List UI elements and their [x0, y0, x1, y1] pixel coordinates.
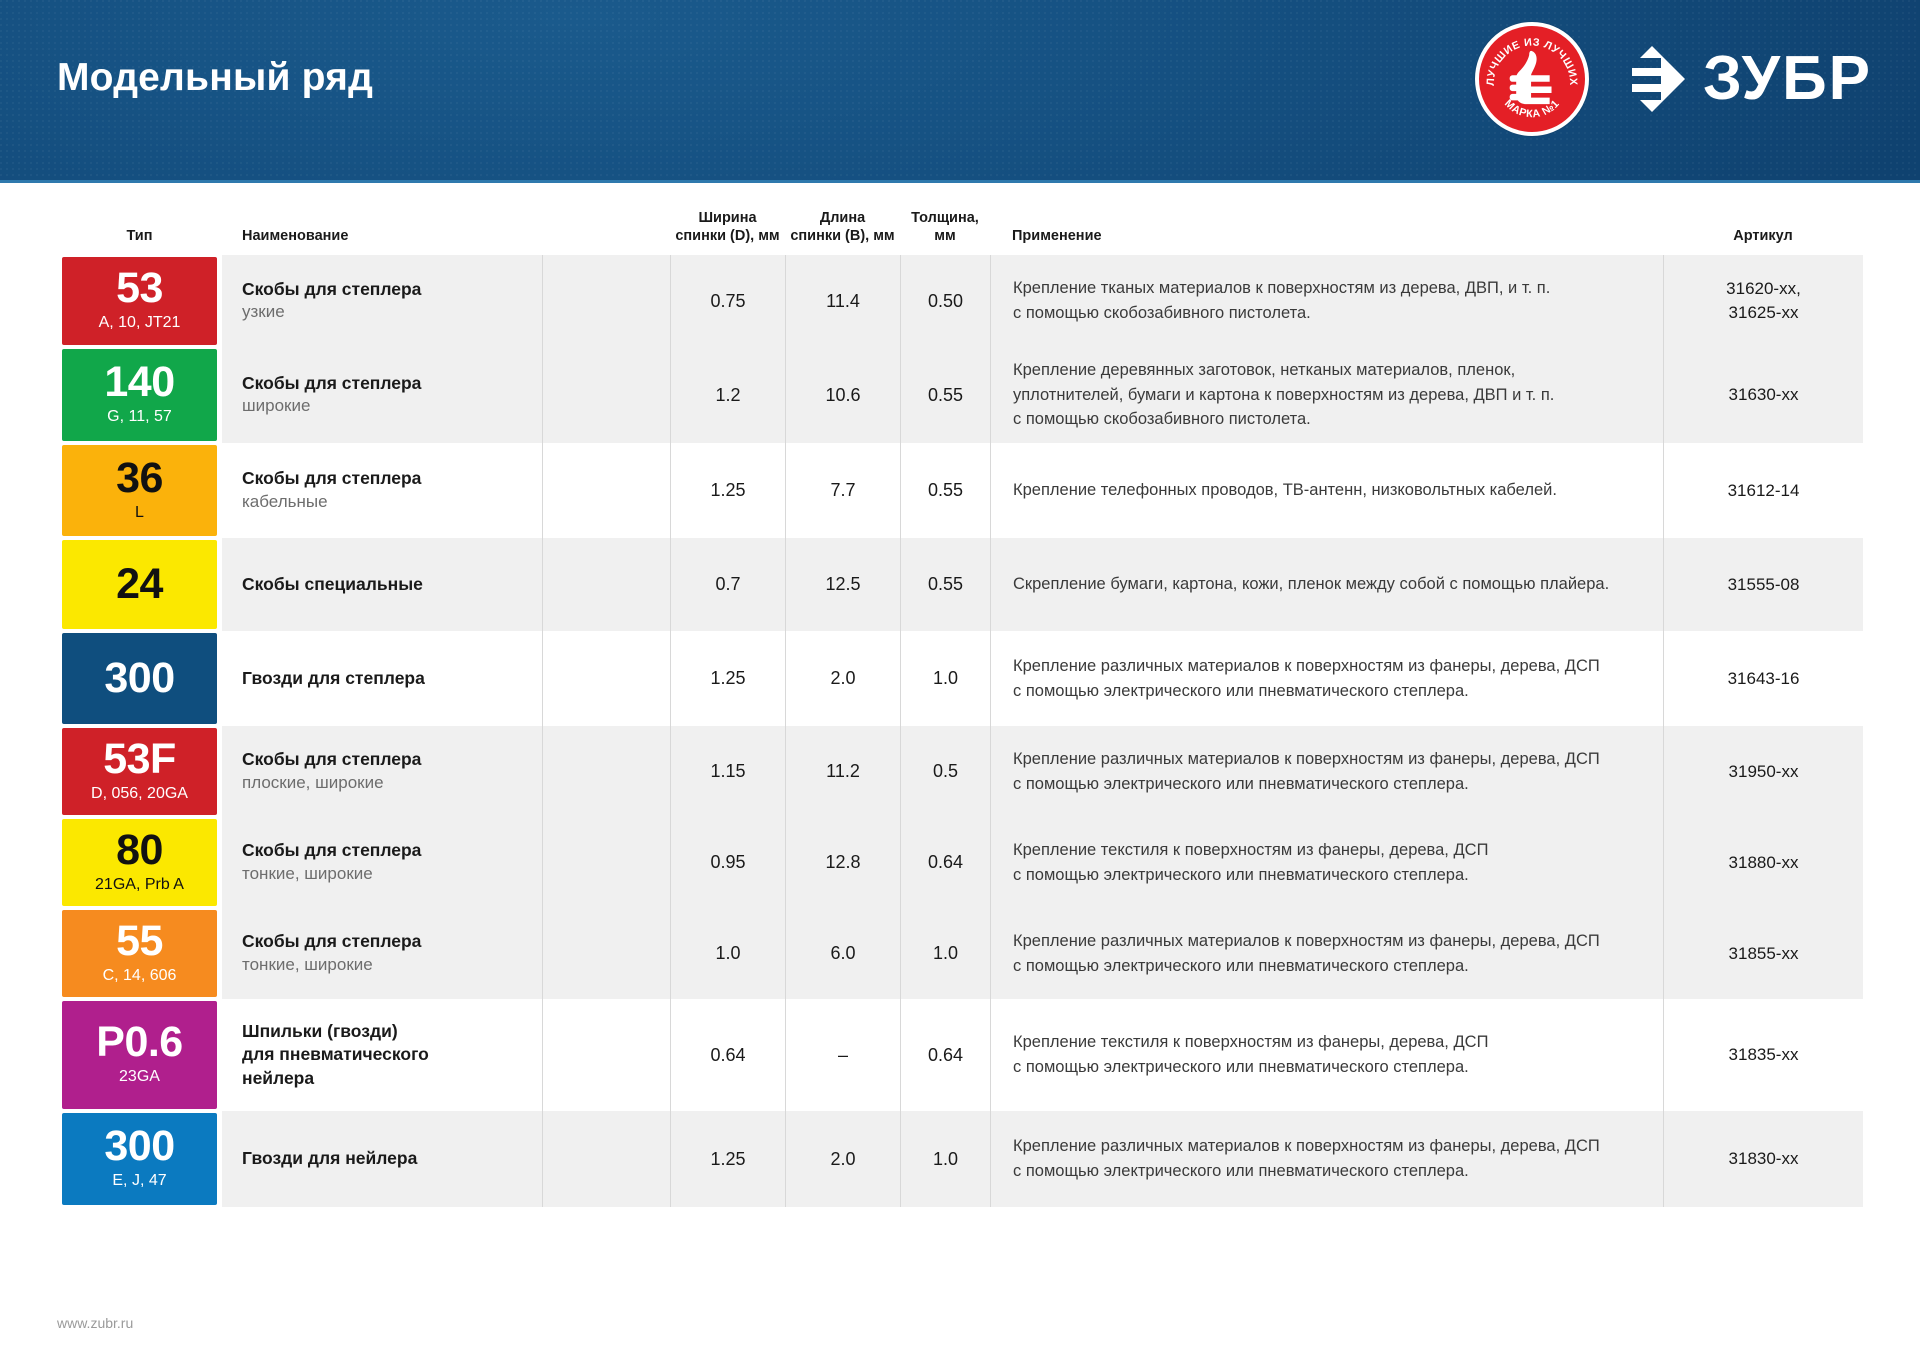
col-header-length-b-line1: Длина	[785, 209, 900, 227]
type-alt-codes: C, 14, 606	[103, 965, 177, 987]
col-header-type: Тип	[57, 227, 222, 255]
diagram-cell	[542, 726, 670, 817]
article-cell: 31950-xx	[1663, 726, 1863, 817]
table-header-row: Тип Наименование Ширина спинки (D), мм Д…	[57, 183, 1863, 255]
diagram-cell	[542, 631, 670, 726]
type-badge-cell[interactable]: 53F D, 056, 20GA	[57, 726, 222, 817]
thickness-value: 0.64	[900, 999, 990, 1111]
width-d-value: 0.64	[670, 999, 785, 1111]
product-name-cell: Шпильки (гвозди) для пневматического ней…	[222, 999, 542, 1111]
usage-line: Крепление различных материалов к поверхн…	[1013, 929, 1600, 954]
product-name-cell: Скобы для степлера широкие	[222, 347, 542, 443]
page-title: Модельный ряд	[57, 56, 373, 100]
type-number: 36	[116, 457, 163, 501]
article-cell: 31855-xx	[1663, 908, 1863, 999]
product-name-subtitle: тонкие, широкие	[242, 954, 373, 977]
article-line: 31835-xx	[1729, 1043, 1799, 1067]
table-row[interactable]: P0.6 23GA Шпильки (гвозди) для пневматич…	[57, 999, 1863, 1111]
type-badge-cell[interactable]: 55 C, 14, 606	[57, 908, 222, 999]
thickness-value: 0.55	[900, 443, 990, 538]
type-alt-codes: 23GA	[119, 1066, 160, 1088]
article-line: 31612-14	[1728, 479, 1800, 503]
product-name: Скобы специальные	[242, 573, 423, 597]
width-d-value: 1.25	[670, 1111, 785, 1207]
type-badge-cell[interactable]: 300 E, J, 47	[57, 1111, 222, 1207]
product-name-line2: для пневматического	[242, 1043, 429, 1067]
width-d-value: 0.95	[670, 817, 785, 908]
usage-line: Крепление текстиля к поверхностям из фан…	[1013, 1030, 1488, 1055]
type-badge[interactable]: 24	[62, 540, 217, 629]
usage-line: Крепление различных материалов к поверхн…	[1013, 1134, 1600, 1159]
zubr-brand-text: ЗУБР	[1703, 48, 1872, 110]
col-header-length-b: Длина спинки (B), мм	[785, 209, 900, 255]
usage-line: с помощью электрического или пневматичес…	[1013, 1159, 1469, 1184]
article-cell: 31630-xx	[1663, 347, 1863, 443]
length-b-value: 2.0	[785, 631, 900, 726]
table-row[interactable]: 36 L Скобы для степлера кабельные 1.25 7…	[57, 443, 1863, 538]
article-line: 31625-xx	[1729, 301, 1799, 325]
usage-cell: Крепление текстиля к поверхностям из фан…	[990, 999, 1663, 1111]
type-badge[interactable]: 53F D, 056, 20GA	[62, 728, 217, 815]
product-name: Гвозди для степлера	[242, 667, 425, 691]
table-row[interactable]: 80 21GA, Prb A Скобы для степлера тонкие…	[57, 817, 1863, 908]
article-line: 31950-xx	[1729, 760, 1799, 784]
length-b-value: –	[785, 999, 900, 1111]
article-line: 31630-xx	[1729, 383, 1799, 407]
article-line: 31830-xx	[1729, 1147, 1799, 1171]
type-alt-codes: 21GA, Prb A	[95, 874, 184, 896]
width-d-value: 1.2	[670, 347, 785, 443]
usage-line: Крепление тканых материалов к поверхност…	[1013, 276, 1550, 301]
usage-line: с помощью скобозабивного пистолета.	[1013, 407, 1311, 432]
type-alt-codes: D, 056, 20GA	[91, 783, 188, 805]
diagram-cell	[542, 817, 670, 908]
type-badge[interactable]: 300 E, J, 47	[62, 1113, 217, 1205]
col-header-width-d: Ширина спинки (D), мм	[670, 209, 785, 255]
product-name: Скобы для степлера	[242, 278, 421, 302]
product-name-subtitle: широкие	[242, 395, 310, 418]
usage-cell: Крепление различных материалов к поверхн…	[990, 1111, 1663, 1207]
zubr-wordmark: ЗУБР	[1615, 42, 1872, 116]
table-row[interactable]: 24 Скобы специальные 0.7 12.5 0.55 Скреп…	[57, 538, 1863, 631]
type-number: 80	[116, 829, 163, 873]
type-badge[interactable]: 80 21GA, Prb A	[62, 819, 217, 906]
product-name-cell: Гвозди для нейлера	[222, 1111, 542, 1207]
article-cell: 31643-16	[1663, 631, 1863, 726]
type-alt-codes: A, 10, JT21	[99, 312, 181, 334]
product-name-subtitle: кабельные	[242, 491, 328, 514]
product-name-subtitle: плоские, широкие	[242, 772, 384, 795]
col-header-thickness-line2: мм	[900, 227, 990, 245]
usage-line: Крепление различных материалов к поверхн…	[1013, 654, 1600, 679]
diagram-cell	[542, 255, 670, 347]
diagram-cell	[542, 347, 670, 443]
best-of-best-seal-icon: ЛУЧШИЕ ИЗ ЛУЧШИХ МАРКА №1	[1475, 22, 1589, 136]
type-badge[interactable]: 140 G, 11, 57	[62, 349, 217, 441]
width-d-value: 0.7	[670, 538, 785, 631]
article-cell: 31555-08	[1663, 538, 1863, 631]
product-name-subtitle: тонкие, широкие	[242, 863, 373, 886]
type-alt-codes: G, 11, 57	[107, 406, 172, 428]
type-alt-codes: L	[135, 502, 144, 524]
model-range-page: Модельный ряд ЛУЧШИЕ	[0, 0, 1920, 1357]
table-body: B D B D B D	[57, 255, 1863, 1207]
usage-line: Крепление деревянных заготовок, нетканых…	[1013, 358, 1515, 383]
thickness-value: 1.0	[900, 1111, 990, 1207]
usage-line: с помощью электрического или пневматичес…	[1013, 679, 1469, 704]
product-name-cell: Скобы специальные	[222, 538, 542, 631]
article-cell: 31835-xx	[1663, 999, 1863, 1111]
type-number: 300	[104, 657, 174, 701]
usage-line: с помощью электрического или пневматичес…	[1013, 863, 1469, 888]
col-header-usage: Применение	[990, 227, 1663, 255]
width-d-value: 1.0	[670, 908, 785, 999]
length-b-value: 12.5	[785, 538, 900, 631]
type-badge[interactable]: 55 C, 14, 606	[62, 910, 217, 997]
type-badge-cell[interactable]: 53 A, 10, JT21	[57, 255, 222, 347]
usage-cell: Крепление различных материалов к поверхн…	[990, 726, 1663, 817]
diagram-cell	[542, 908, 670, 999]
type-badge-cell[interactable]: 140 G, 11, 57	[57, 347, 222, 443]
product-name-cell: Скобы для степлера тонкие, широкие	[222, 908, 542, 999]
header-accent-line	[0, 180, 1920, 183]
type-number: P0.6	[96, 1021, 182, 1065]
usage-line: Крепление различных материалов к поверхн…	[1013, 747, 1600, 772]
length-b-value: 11.4	[785, 255, 900, 347]
type-number: 300	[104, 1125, 174, 1169]
length-b-value: 12.8	[785, 817, 900, 908]
thickness-value: 0.64	[900, 817, 990, 908]
usage-line: с помощью электрического или пневматичес…	[1013, 1055, 1469, 1080]
footer-website: www.zubr.ru	[57, 1315, 133, 1331]
type-badge[interactable]: 53 A, 10, JT21	[62, 257, 217, 345]
thickness-value: 1.0	[900, 908, 990, 999]
thickness-value: 0.50	[900, 255, 990, 347]
width-d-value: 0.75	[670, 255, 785, 347]
thickness-value: 0.55	[900, 538, 990, 631]
product-name: Скобы для степлера	[242, 930, 421, 954]
article-cell: 31830-xx	[1663, 1111, 1863, 1207]
usage-line: с помощью скобозабивного пистолета.	[1013, 301, 1311, 326]
article-cell: 31612-14	[1663, 443, 1863, 538]
type-badge-cell[interactable]: 80 21GA, Prb A	[57, 817, 222, 908]
width-d-value: 1.15	[670, 726, 785, 817]
thickness-value: 0.55	[900, 347, 990, 443]
length-b-value: 2.0	[785, 1111, 900, 1207]
length-b-value: 11.2	[785, 726, 900, 817]
product-name-line3: нейлера	[242, 1067, 314, 1091]
table-row[interactable]: 140 G, 11, 57 Скобы для степлера широкие…	[57, 347, 1863, 443]
length-b-value: 6.0	[785, 908, 900, 999]
usage-cell: Скрепление бумаги, картона, кожи, пленок…	[990, 538, 1663, 631]
usage-cell: Крепление различных материалов к поверхн…	[990, 908, 1663, 999]
product-name: Гвозди для нейлера	[242, 1147, 417, 1171]
type-badge-cell[interactable]: 300	[57, 631, 222, 726]
table-row[interactable]: 300 E, J, 47 Гвозди для нейлера 1.25 2.0…	[57, 1111, 1863, 1207]
col-header-width-d-line1: Ширина	[670, 209, 785, 227]
article-line: 31643-16	[1728, 667, 1800, 691]
table-row[interactable]: 53F D, 056, 20GA Скобы для степлера плос…	[57, 726, 1863, 817]
thickness-value: 1.0	[900, 631, 990, 726]
product-name-cell: Скобы для степлера плоские, широкие	[222, 726, 542, 817]
col-header-name: Наименование	[222, 227, 542, 255]
col-header-thickness-line1: Толщина,	[900, 209, 990, 227]
col-header-picture	[542, 245, 670, 255]
product-name-cell: Гвозди для степлера	[222, 631, 542, 726]
product-name: Скобы для степлера	[242, 748, 421, 772]
diagram-cell	[542, 443, 670, 538]
length-b-value: 7.7	[785, 443, 900, 538]
type-alt-codes: E, J, 47	[112, 1170, 166, 1192]
article-cell: 31880-xx	[1663, 817, 1863, 908]
table-row[interactable]: 53 A, 10, JT21 Скобы для степлера узкие …	[57, 255, 1863, 347]
type-badge[interactable]: 36 L	[62, 445, 217, 536]
type-number: 53F	[103, 738, 176, 782]
diagram-cell	[542, 999, 670, 1111]
product-name-cell: Скобы для степлера узкие	[222, 255, 542, 347]
product-name-line1: Шпильки (гвозди)	[242, 1020, 398, 1044]
usage-line: с помощью электрического или пневматичес…	[1013, 954, 1469, 979]
article-cell: 31620-xx,31625-xx	[1663, 255, 1863, 347]
usage-cell: Крепление деревянных заготовок, нетканых…	[990, 347, 1663, 443]
usage-cell: Крепление различных материалов к поверхн…	[990, 631, 1663, 726]
article-line: 31855-xx	[1729, 942, 1799, 966]
width-d-value: 1.25	[670, 631, 785, 726]
diagram-cell	[542, 538, 670, 631]
table-row[interactable]: 55 C, 14, 606 Скобы для степлера тонкие,…	[57, 908, 1863, 999]
article-line: 31620-xx,	[1726, 277, 1801, 301]
usage-cell: Крепление текстиля к поверхностям из фан…	[990, 817, 1663, 908]
type-badge[interactable]: P0.6 23GA	[62, 1001, 217, 1109]
type-number: 55	[116, 920, 163, 964]
type-badge-cell[interactable]: 24	[57, 538, 222, 631]
usage-line: Скрепление бумаги, картона, кожи, пленок…	[1013, 572, 1609, 597]
type-badge-cell[interactable]: 36 L	[57, 443, 222, 538]
col-header-article: Артикул	[1663, 227, 1863, 255]
type-number: 24	[116, 563, 163, 607]
usage-cell: Крепление телефонных проводов, ТВ-антенн…	[990, 443, 1663, 538]
col-header-thickness: Толщина, мм	[900, 209, 990, 255]
page-header: Модельный ряд ЛУЧШИЕ	[0, 0, 1920, 183]
type-number: 140	[104, 361, 174, 405]
zubr-diamond-icon	[1615, 42, 1689, 116]
product-name-subtitle: узкие	[242, 301, 285, 324]
thickness-value: 0.5	[900, 726, 990, 817]
usage-line: Крепление телефонных проводов, ТВ-антенн…	[1013, 478, 1557, 503]
type-badge[interactable]: 300	[62, 633, 217, 724]
length-b-value: 10.6	[785, 347, 900, 443]
diagram-cell	[542, 1111, 670, 1207]
width-d-value: 1.25	[670, 443, 785, 538]
product-name: Скобы для степлера	[242, 467, 421, 491]
brand-logo-block: ЛУЧШИЕ ИЗ ЛУЧШИХ МАРКА №1 ЗУБР	[1475, 20, 1872, 138]
usage-line: с помощью электрического или пневматичес…	[1013, 772, 1469, 797]
usage-line: Крепление текстиля к поверхностям из фан…	[1013, 838, 1488, 863]
table-row[interactable]: 300 Гвозди для степлера 1.25 2.0 1.0 Кре…	[57, 631, 1863, 726]
type-number: 53	[116, 267, 163, 311]
type-badge-cell[interactable]: P0.6 23GA	[57, 999, 222, 1111]
product-name: Скобы для степлера	[242, 372, 421, 396]
product-name: Скобы для степлера	[242, 839, 421, 863]
col-header-length-b-line2: спинки (B), мм	[785, 227, 900, 245]
usage-line: уплотнителей, бумаги и картона к поверхн…	[1013, 383, 1554, 408]
usage-cell: Крепление тканых материалов к поверхност…	[990, 255, 1663, 347]
article-line: 31880-xx	[1729, 851, 1799, 875]
product-name-cell: Скобы для степлера кабельные	[222, 443, 542, 538]
col-header-width-d-line2: спинки (D), мм	[670, 227, 785, 245]
product-name-cell: Скобы для степлера тонкие, широкие	[222, 817, 542, 908]
article-line: 31555-08	[1728, 573, 1800, 597]
model-range-table: Тип Наименование Ширина спинки (D), мм Д…	[0, 183, 1920, 1207]
